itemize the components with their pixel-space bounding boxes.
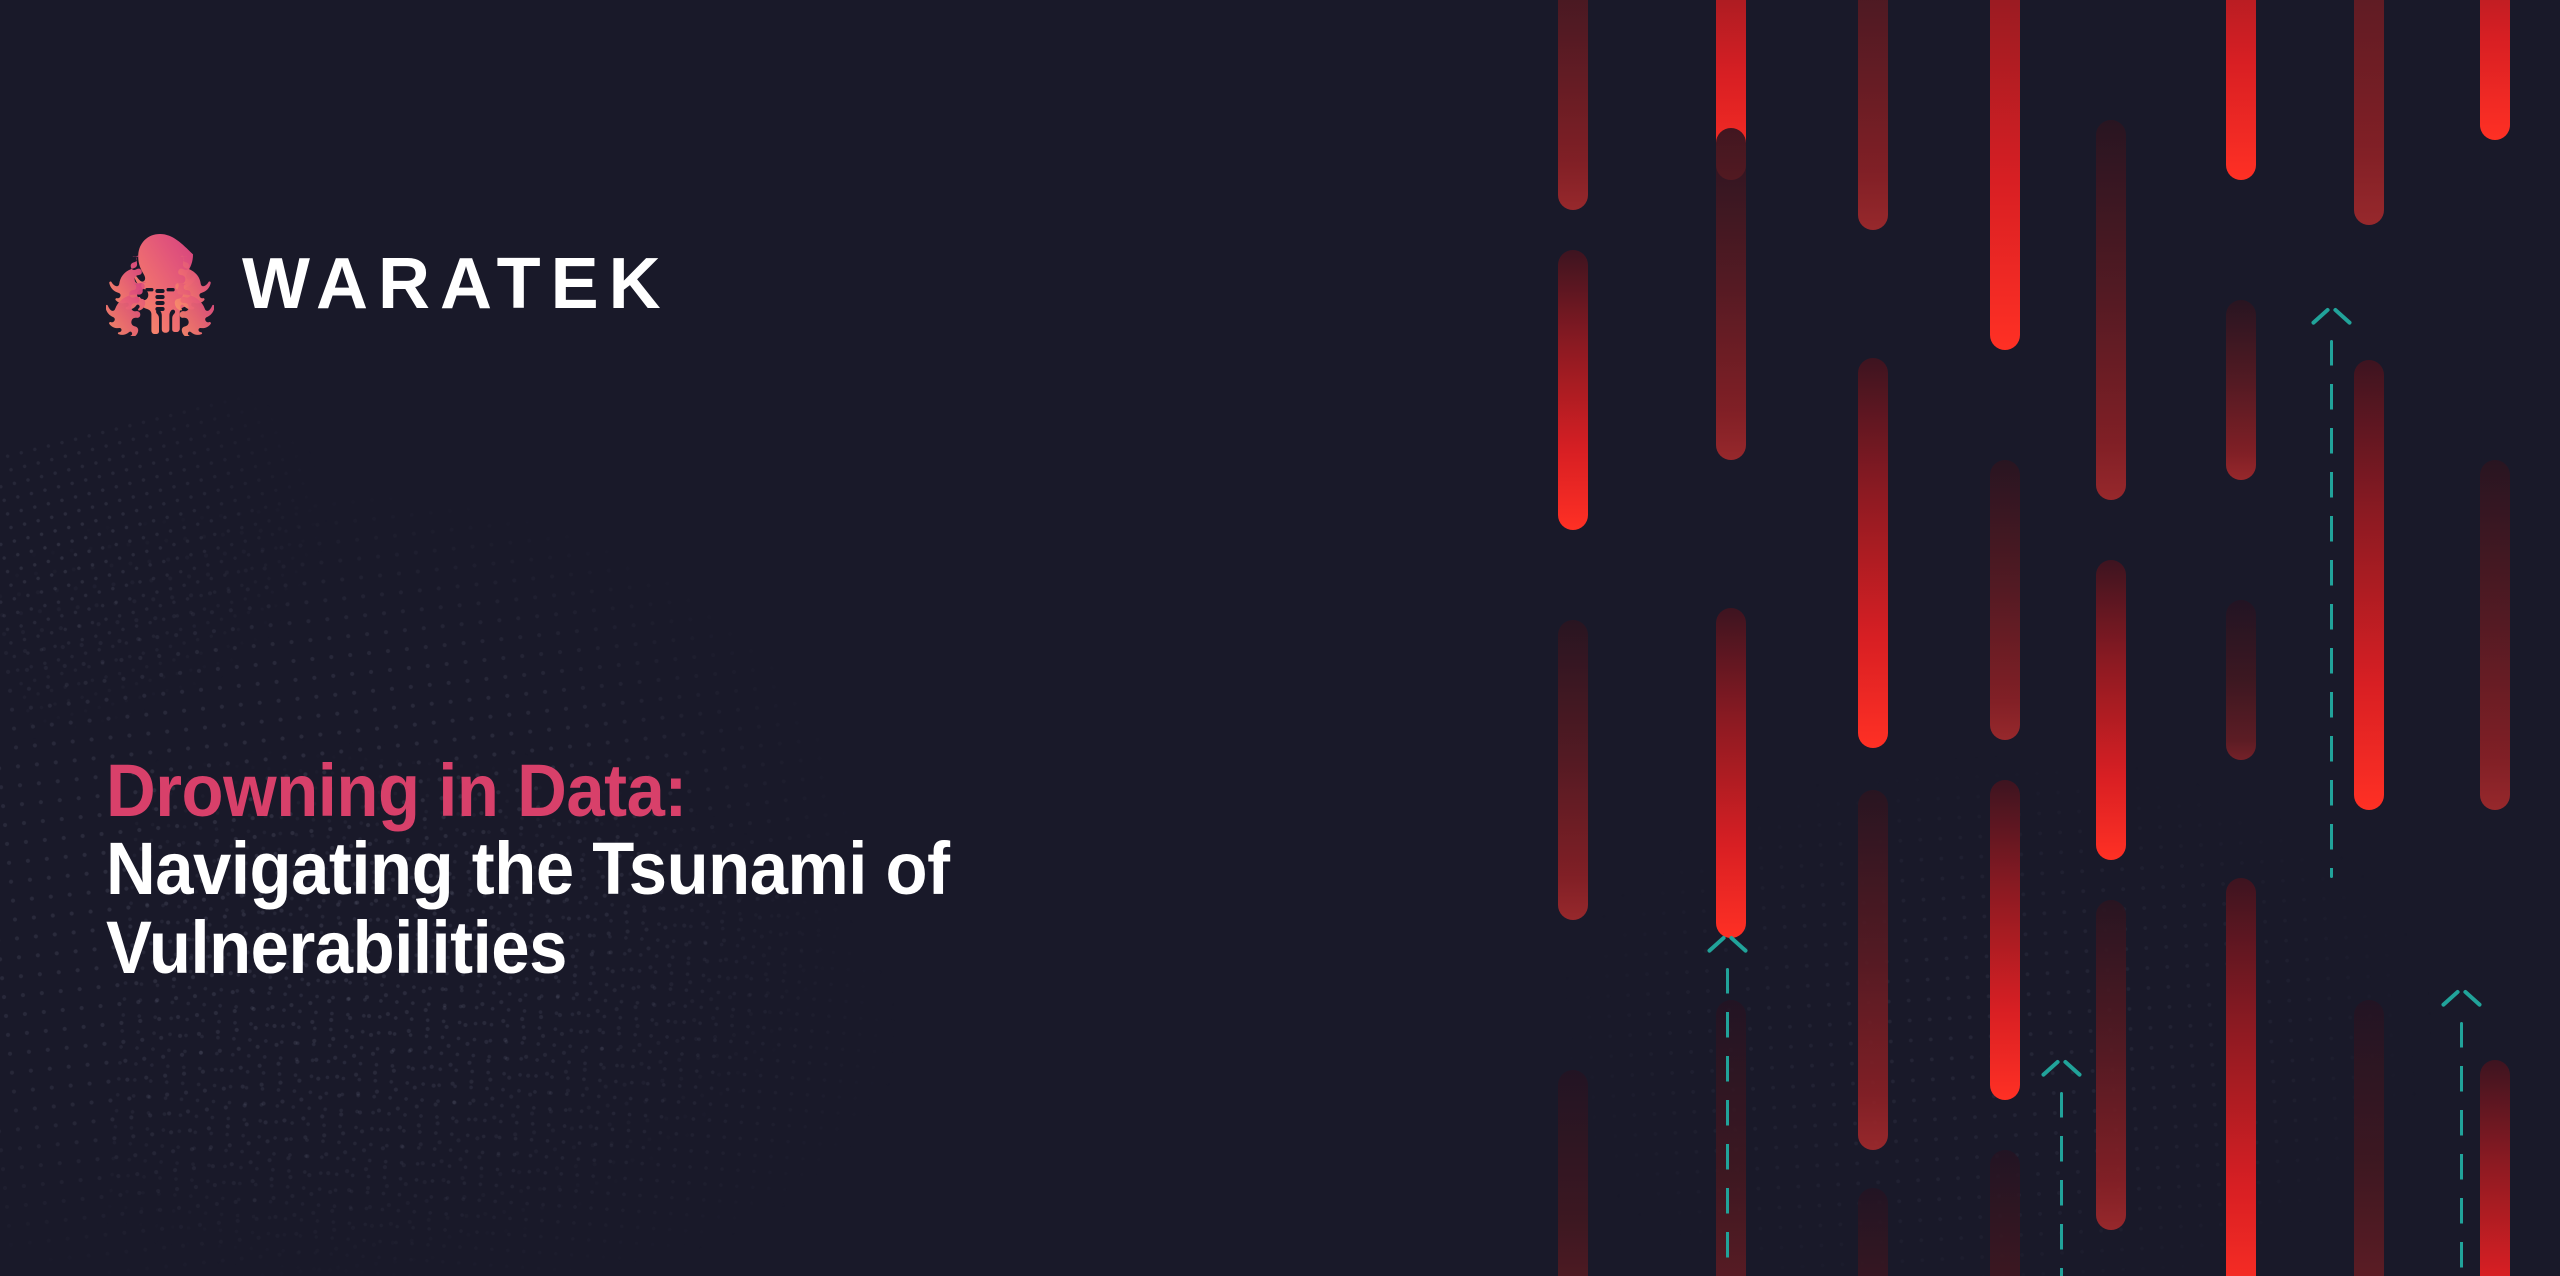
data-bar xyxy=(1858,790,1888,1150)
brand-wordmark: WARATEK xyxy=(242,248,671,320)
arrow-dashed-stem xyxy=(2460,1022,2463,1276)
arrow-dashed-stem xyxy=(1726,968,1729,1276)
data-bar xyxy=(2480,0,2510,140)
data-bar xyxy=(1990,780,2020,1100)
data-bar xyxy=(2480,1060,2510,1276)
headline-line-3: Vulnerabilities xyxy=(106,909,943,987)
data-bar xyxy=(1990,0,2020,350)
data-bar xyxy=(2354,1000,2384,1276)
headline-line-2: Navigating the Tsunami of xyxy=(106,830,943,908)
data-bar xyxy=(1858,0,1888,230)
page-title: Drowning in Data: Navigating the Tsunami… xyxy=(106,752,1006,987)
data-bar xyxy=(2226,878,2256,1276)
data-bar-field-graphic xyxy=(1540,0,2560,1276)
brand-logo-lockup[interactable]: WARATEK xyxy=(106,232,671,336)
trend-arrow-up-icon xyxy=(1726,946,1729,1276)
data-bar xyxy=(2226,600,2256,760)
data-bar xyxy=(2354,360,2384,810)
data-bar xyxy=(1990,460,2020,740)
data-bar xyxy=(2226,300,2256,480)
data-bar xyxy=(2226,0,2256,180)
data-bar xyxy=(1990,1150,2020,1276)
arrow-dashed-stem xyxy=(2060,1092,2063,1276)
trend-arrow-up-icon xyxy=(2060,1070,2063,1276)
data-bar xyxy=(1558,620,1588,920)
data-bar xyxy=(2096,560,2126,860)
data-bar xyxy=(2354,0,2384,225)
data-bar xyxy=(1558,1070,1588,1276)
data-bar xyxy=(1858,1188,1888,1276)
data-bar xyxy=(2480,460,2510,810)
data-bar xyxy=(1716,128,1746,460)
trend-arrow-up-icon xyxy=(2330,318,2333,878)
data-bar xyxy=(1858,358,1888,748)
data-bar xyxy=(1716,608,1746,938)
data-bar xyxy=(1716,1000,1746,1276)
headline-line-1: Drowning in Data: xyxy=(106,752,943,830)
hero-banner: WARATEK Drowning in Data: Navigating the… xyxy=(0,0,2560,1276)
data-bar xyxy=(1558,250,1588,530)
trend-arrow-up-icon xyxy=(2460,1000,2463,1276)
octopus-icon xyxy=(106,232,214,336)
data-bar xyxy=(2096,120,2126,500)
data-bar xyxy=(1558,0,1588,210)
arrow-dashed-stem xyxy=(2330,340,2333,878)
data-bar xyxy=(2096,900,2126,1230)
